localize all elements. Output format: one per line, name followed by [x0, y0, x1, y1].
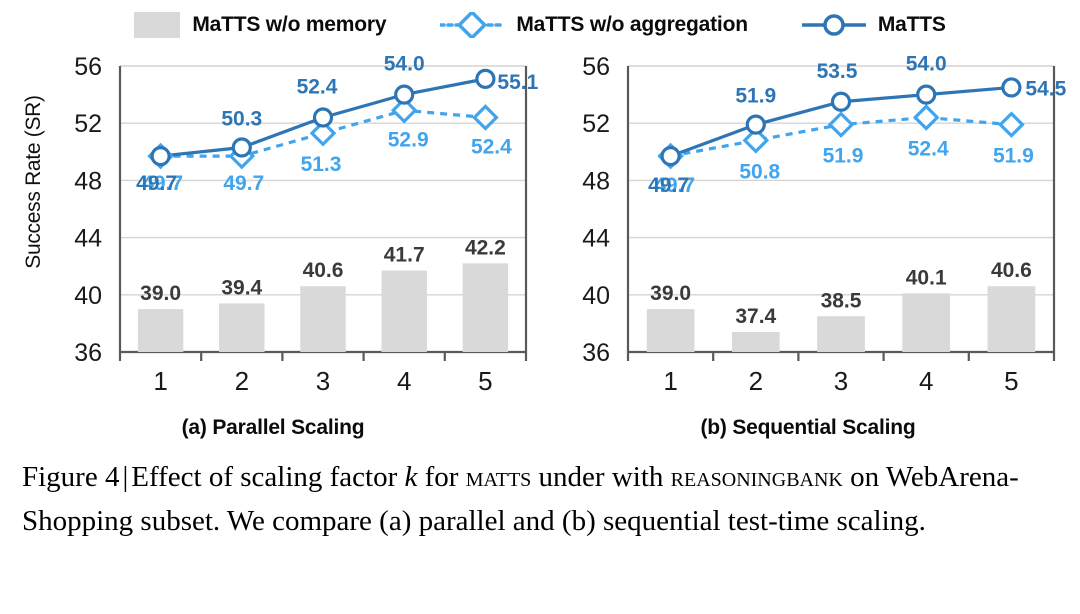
circle-solid-icon: [802, 12, 866, 38]
bar-value-label: 38.5: [821, 289, 862, 312]
marker-diamond: [915, 106, 937, 128]
subplot-parallel-scaling: Success Rate (SR) 3640444852561234539.03…: [8, 52, 538, 442]
y-tick-label: 44: [74, 225, 102, 253]
x-tick-label: 5: [478, 366, 492, 396]
marker-circle: [918, 86, 935, 103]
bar-value-label: 39.0: [140, 282, 181, 305]
y-tick-label: 40: [582, 282, 610, 310]
bar-value-label: 40.6: [991, 259, 1032, 282]
marker-circle: [233, 139, 250, 156]
bar-value-label: 37.4: [735, 305, 776, 328]
bar: [647, 309, 695, 352]
bar-value-label: 39.4: [221, 276, 262, 299]
x-tick-label: 4: [919, 366, 933, 396]
figure-caption: Figure 4|Effect of scaling factor k for …: [22, 455, 1064, 543]
y-tick-label: 52: [74, 110, 102, 138]
caption-text-3: under with: [531, 461, 670, 493]
caption-text-1: Effect of scaling factor: [131, 461, 404, 493]
bar: [300, 286, 345, 352]
point-value-label: 51.9: [735, 85, 776, 108]
point-value-label: 49.7: [223, 172, 264, 195]
point-value-label: 52.4: [297, 75, 338, 98]
marker-diamond: [830, 114, 852, 136]
subplot-caption-a: (a) Parallel Scaling: [8, 416, 538, 440]
plot-area-a: 3640444852561234539.039.440.641.742.249.…: [8, 52, 538, 412]
point-value-label: 49.7: [136, 172, 177, 195]
legend-item-matts-wo-memory: MaTTS w/o memory: [134, 12, 386, 38]
point-value-label: 51.9: [993, 145, 1034, 168]
diamond-dotted-icon: [440, 12, 504, 38]
caption-method-matts: MaTTS: [466, 461, 532, 493]
marker-circle: [477, 70, 494, 87]
legend-item-matts-wo-aggregation: MaTTS w/o aggregation: [440, 12, 747, 38]
point-value-label: 54.0: [384, 53, 425, 76]
point-value-label: 53.5: [817, 60, 858, 83]
caption-variable-k: k: [405, 461, 418, 493]
legend-item-matts: MaTTS: [802, 12, 946, 38]
point-value-label: 50.3: [221, 108, 262, 131]
point-value-label: 50.8: [739, 160, 780, 183]
point-value-label: 54.0: [906, 53, 947, 76]
marker-circle: [833, 93, 850, 110]
bar-value-label: 39.0: [650, 282, 691, 305]
legend-label: MaTTS w/o memory: [192, 13, 386, 37]
caption-method-reasoningbank: ReasoningBank: [671, 461, 843, 493]
bar-value-label: 42.2: [465, 236, 506, 259]
bar: [988, 286, 1036, 352]
y-tick-label: 36: [74, 339, 102, 367]
y-tick-label: 56: [74, 53, 102, 81]
x-tick-label: 1: [663, 366, 677, 396]
marker-circle: [152, 148, 169, 165]
legend-label: MaTTS: [878, 13, 946, 37]
x-tick-label: 2: [235, 366, 249, 396]
x-tick-label: 4: [397, 366, 411, 396]
bar-value-label: 40.6: [303, 259, 344, 282]
y-tick-label: 48: [74, 167, 102, 195]
point-value-label: 52.9: [388, 128, 429, 151]
marker-circle: [1003, 79, 1020, 96]
point-value-label: 51.3: [301, 153, 342, 176]
marker-circle: [662, 148, 679, 165]
x-tick-label: 2: [749, 366, 763, 396]
caption-divider: |: [119, 461, 131, 493]
caption-figure-number: Figure 4: [22, 461, 119, 493]
bar: [381, 270, 426, 352]
y-tick-label: 36: [582, 339, 610, 367]
x-tick-label: 3: [316, 366, 330, 396]
chart-legend: MaTTS w/o memory MaTTS w/o aggregation M…: [0, 12, 1080, 38]
subplot-caption-b: (b) Sequential Scaling: [548, 416, 1068, 440]
bar: [219, 303, 264, 352]
y-tick-label: 48: [582, 167, 610, 195]
x-tick-label: 3: [834, 366, 848, 396]
bar: [463, 263, 508, 352]
point-value-label: 52.4: [471, 135, 512, 158]
y-axis-label: Success Rate (SR): [22, 72, 46, 292]
bar: [732, 332, 780, 352]
plot-area-b: 3640444852561234539.037.438.540.140.649.…: [548, 52, 1068, 412]
y-tick-label: 40: [74, 282, 102, 310]
y-tick-label: 44: [582, 225, 610, 253]
marker-circle: [396, 86, 413, 103]
bar-value-label: 40.1: [906, 266, 947, 289]
marker-diamond: [474, 106, 496, 128]
bar: [138, 309, 183, 352]
bar-swatch-icon: [134, 12, 180, 38]
figure-plots: Success Rate (SR) 3640444852561234539.03…: [0, 52, 1080, 442]
point-value-label: 52.4: [908, 137, 949, 160]
subplot-sequential-scaling: 3640444852561234539.037.438.540.140.649.…: [548, 52, 1068, 442]
point-value-label: 55.1: [497, 71, 538, 94]
point-value-label: 49.7: [648, 174, 689, 197]
marker-circle: [315, 109, 332, 126]
marker-diamond: [1000, 114, 1022, 136]
x-tick-label: 1: [153, 366, 167, 396]
bar: [817, 316, 865, 352]
marker-circle: [747, 116, 764, 133]
y-tick-label: 52: [582, 110, 610, 138]
point-value-label: 54.5: [1025, 77, 1066, 100]
caption-text-2: for: [417, 461, 465, 493]
x-tick-label: 5: [1004, 366, 1018, 396]
point-value-label: 51.9: [823, 145, 864, 168]
y-tick-label: 56: [582, 53, 610, 81]
legend-label: MaTTS w/o aggregation: [516, 13, 747, 37]
bar: [902, 293, 950, 352]
bar-value-label: 41.7: [384, 243, 425, 266]
